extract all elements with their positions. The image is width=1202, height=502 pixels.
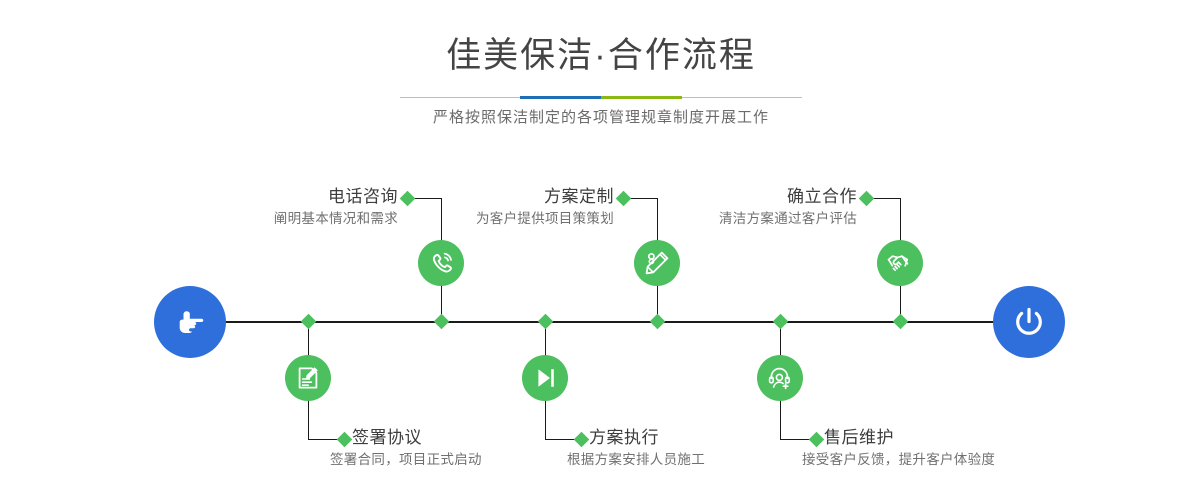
step-icon-circle-1 (418, 240, 464, 286)
play-next-icon (531, 364, 559, 392)
step-label-5: 确立合作 清洁方案通过客户评估 (565, 186, 857, 230)
document-edit-icon (294, 364, 322, 392)
title-divider (400, 96, 802, 99)
headset-support-icon (766, 364, 794, 392)
label-marker-2 (337, 432, 353, 448)
step-icon-circle-5 (877, 240, 923, 286)
page-title: 佳美保洁·合作流程 (0, 34, 1202, 78)
divider-segment-green (601, 96, 682, 99)
phone-call-icon (427, 249, 455, 277)
power-icon (1008, 301, 1050, 343)
cooperation-flow-infographic: 佳美保洁·合作流程 严格按照保洁制定的各项管理规章制度开展工作 (0, 0, 1202, 502)
axis-marker-4 (538, 314, 554, 330)
step-title-5: 确立合作 (565, 186, 857, 208)
step-icon-circle-4 (522, 355, 568, 401)
handshake-icon (886, 249, 914, 277)
step-label-6: 售后维护 接受客户反馈，提升客户体验度 (824, 427, 1184, 471)
label-marker-5 (859, 191, 875, 207)
step-desc-5: 清洁方案通过客户评估 (565, 208, 857, 230)
step-icon-circle-3 (634, 240, 680, 286)
pointing-hand-icon (170, 302, 210, 342)
axis-marker-6 (773, 314, 789, 330)
axis-marker-5 (893, 314, 909, 330)
divider-segment-blue (520, 96, 601, 99)
page-subtitle: 严格按照保洁制定的各项管理规章制度开展工作 (0, 106, 1202, 130)
step-title-6: 售后维护 (824, 427, 1184, 449)
axis-marker-2 (301, 314, 317, 330)
step-icon-circle-6 (757, 355, 803, 401)
header: 佳美保洁·合作流程 (0, 34, 1202, 78)
flow-start-node (154, 286, 226, 358)
flow-end-node (993, 286, 1065, 358)
step-icon-circle-2 (285, 355, 331, 401)
pencil-ruler-icon (643, 249, 671, 277)
axis-marker-3 (650, 314, 666, 330)
axis-marker-1 (434, 314, 450, 330)
step-desc-6: 接受客户反馈，提升客户体验度 (802, 449, 1184, 471)
